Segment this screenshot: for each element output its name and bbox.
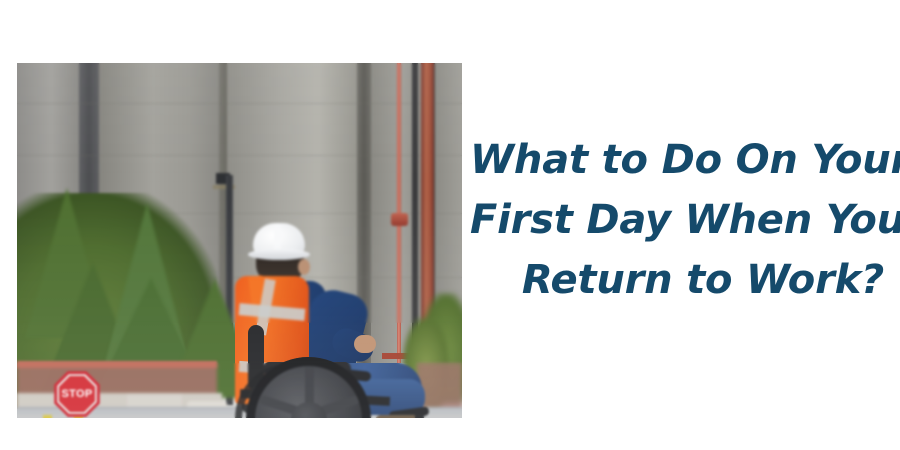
headline-line-2: First Day When You xyxy=(470,190,884,250)
page-title: What to Do On Your First Day When You Re… xyxy=(470,130,884,310)
banner-canvas: STOP xyxy=(0,0,900,450)
headline-line-3: Return to Work? xyxy=(470,250,884,310)
hero-photo: STOP xyxy=(17,63,462,418)
photo-light-overlay xyxy=(17,63,462,418)
headline-line-1: What to Do On Your xyxy=(470,130,884,190)
